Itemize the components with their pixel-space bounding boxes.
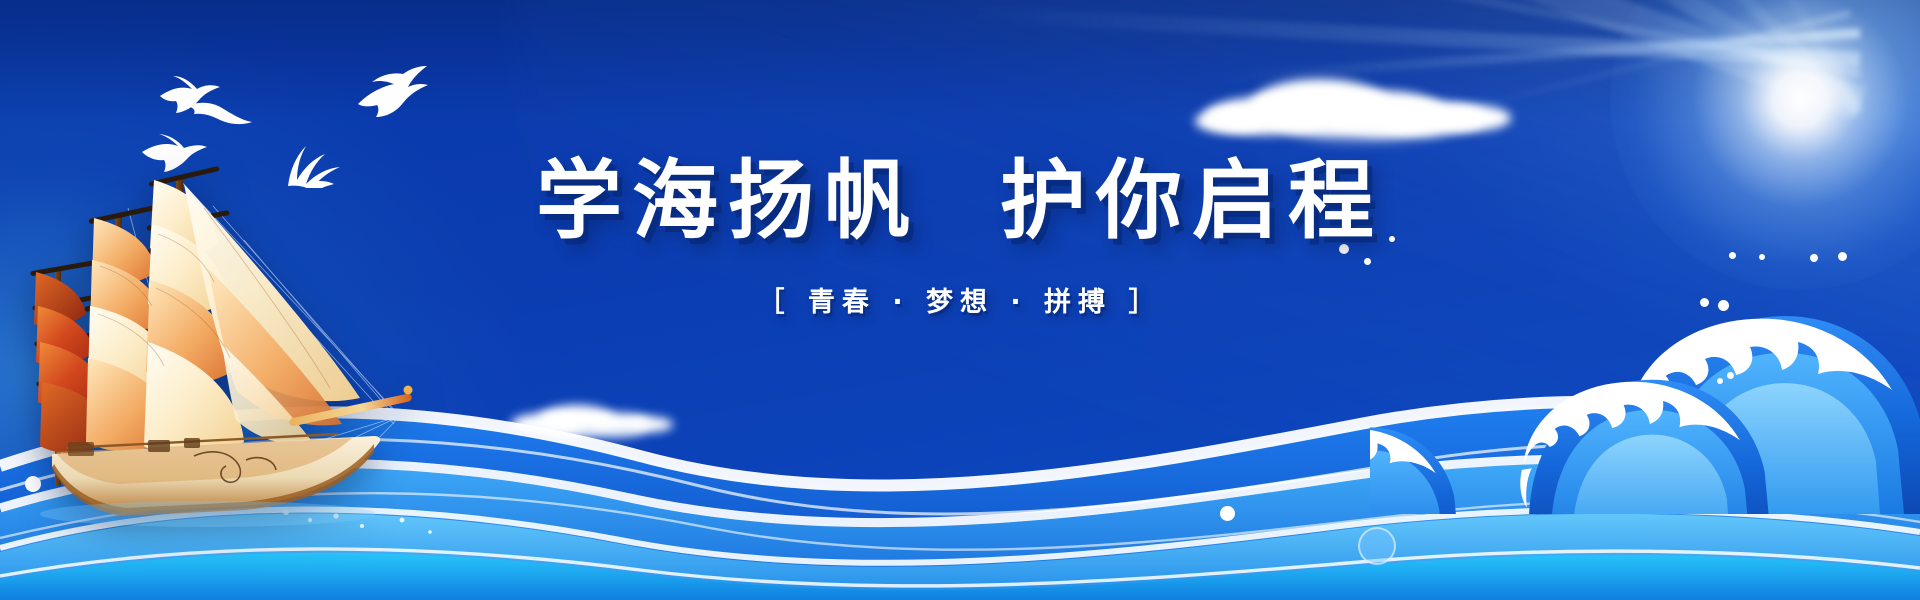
- headline-block: 学海扬帆 护你启程 ［ 青春 · 梦想 · 拼搏 ］: [0, 158, 1920, 319]
- page-title: 学海扬帆 护你启程: [536, 158, 1384, 246]
- banner-root: 学海扬帆 护你启程 ［ 青春 · 梦想 · 拼搏 ］: [0, 0, 1920, 600]
- page-subtitle: ［ 青春 · 梦想 · 拼搏 ］: [0, 280, 1920, 319]
